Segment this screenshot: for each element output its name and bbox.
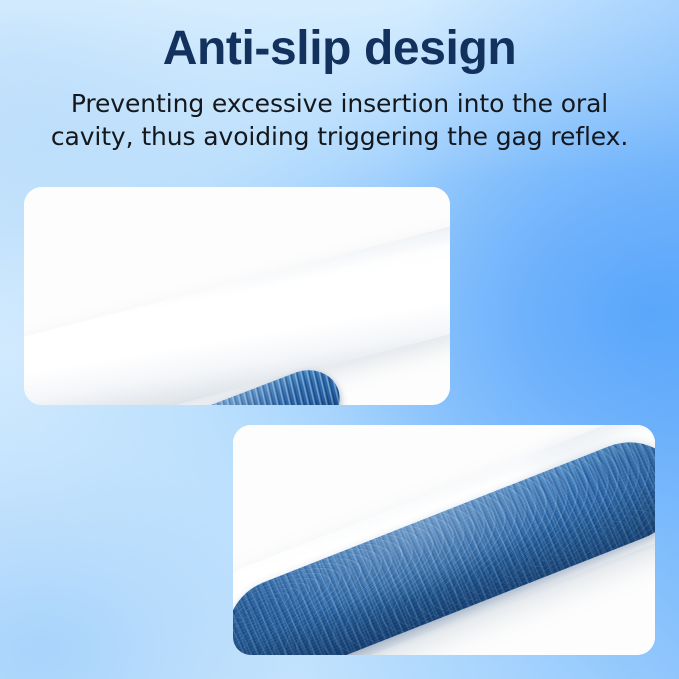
header-block: Anti-slip design Preventing excessive in… xyxy=(0,0,679,153)
page-subtitle: Preventing excessive insertion into the … xyxy=(0,76,679,153)
toothbrush-textured-grip-photo xyxy=(233,425,655,655)
toothbrush-ribbed-grip-photo-card xyxy=(24,187,450,405)
page-subtitle-line-1: Preventing excessive insertion into the … xyxy=(0,87,679,120)
page-subtitle-line-2: cavity, thus avoiding triggering the gag… xyxy=(0,120,679,153)
page-title: Anti-slip design xyxy=(0,0,679,76)
product-feature-banner: Anti-slip design Preventing excessive in… xyxy=(0,0,679,679)
toothbrush-handle-body xyxy=(24,201,450,405)
handle-highlight xyxy=(24,219,450,393)
toothbrush-ribbed-grip-photo xyxy=(24,187,450,405)
toothbrush-textured-grip-photo-card xyxy=(233,425,655,655)
